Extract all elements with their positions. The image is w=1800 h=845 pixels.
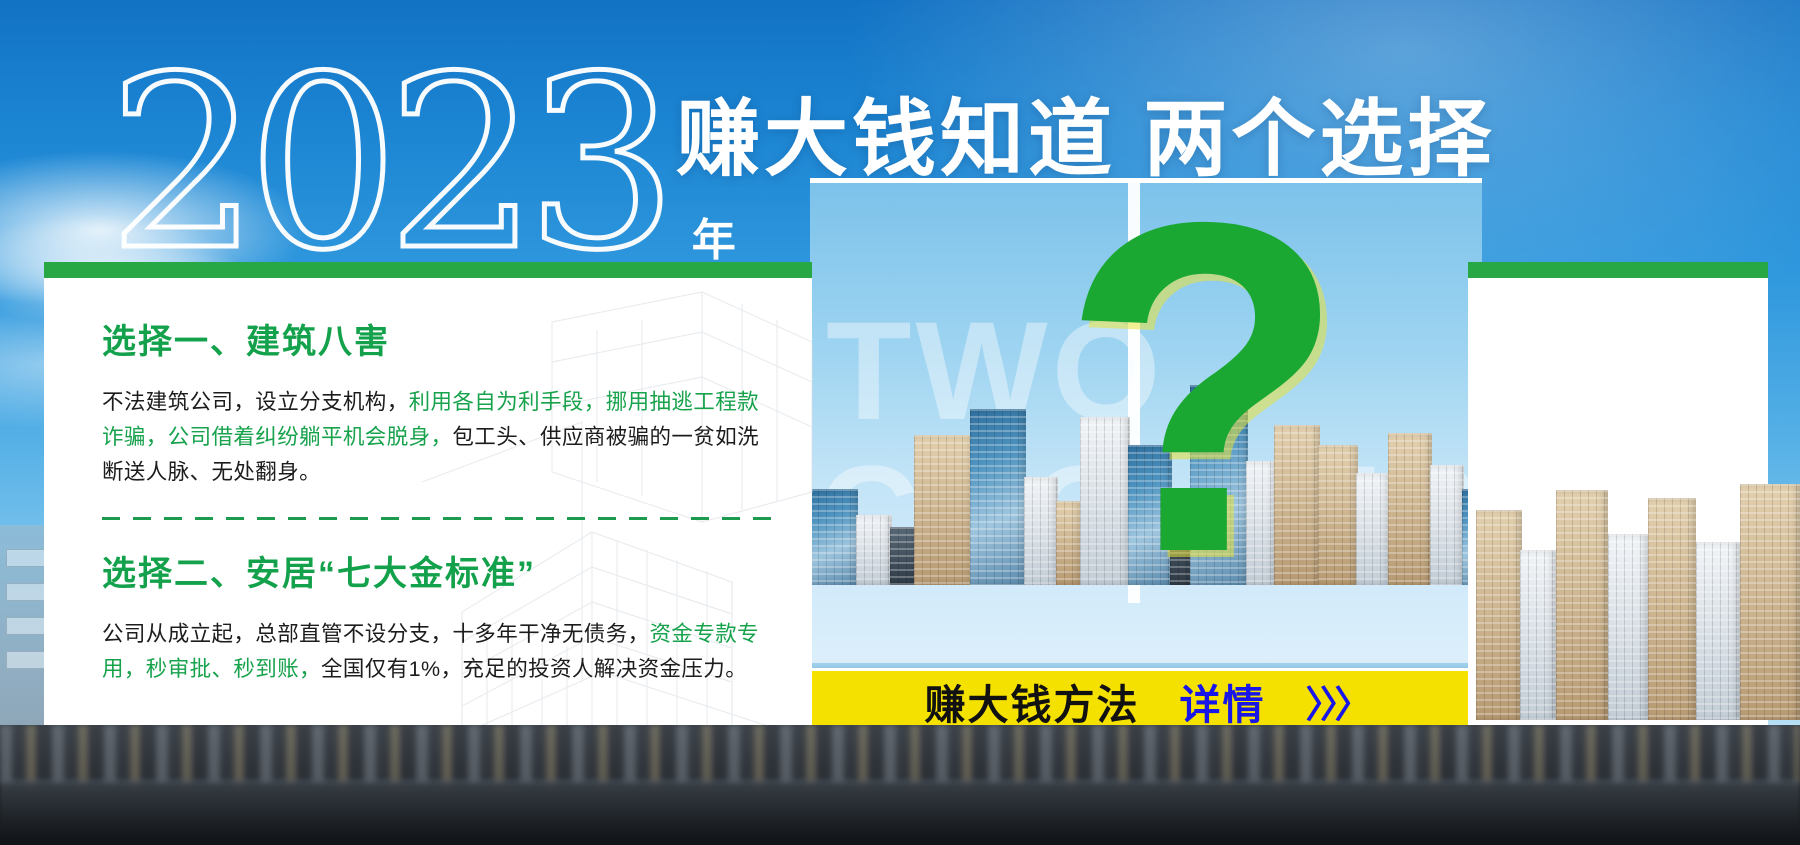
blurred-cityscape [0, 725, 1800, 783]
cta-detail-label: 详情 [1180, 671, 1266, 731]
content-card: 选择一、建筑八害 不法建筑公司，设立分支机构，利用各自为利手段，挪用抽逃工程款诈… [44, 262, 812, 789]
cta-label: 赚大钱方法 [925, 671, 1140, 731]
far-right-skyline [1470, 380, 1800, 720]
body-run-black: 全国仅有1%，充足的投资人解决资金压力。 [321, 657, 747, 681]
section-divider [102, 517, 772, 520]
headline: 赚大钱知道 两个选择 [676, 72, 1495, 193]
right-visual-panel: TWO CHOICES ? [810, 183, 1482, 663]
promo-banner: 2023 年 赚大钱知道 两个选择 TWO CHOICES [0, 0, 1800, 845]
chevron-right-icon: 〉〉〉 [1306, 674, 1368, 728]
bottom-photo-strip [0, 725, 1800, 845]
question-mark-icon: ? [1060, 195, 1347, 580]
right-green-accent [1468, 262, 1768, 278]
body-run-black: 不法建筑公司，设立分支机构， [102, 390, 409, 414]
water-reflection [0, 779, 1800, 845]
card-content: 选择一、建筑八害 不法建筑公司，设立分支机构，利用各自为利手段，挪用抽逃工程款诈… [44, 262, 812, 687]
body-run-black: 公司从成立起，总部直管不设分支，十多年干净无债务， [102, 622, 650, 646]
card-section-2: 选择二、安居“七大金标准” 公司从成立起，总部直管不设分支，十多年干净无债务，资… [102, 546, 772, 687]
section-body-1: 不法建筑公司，设立分支机构，利用各自为利手段，挪用抽逃工程款诈骗，公司借着纠纷躺… [102, 385, 772, 489]
section-body-2: 公司从成立起，总部直管不设分支，十多年干净无债务，资金专款专用，秒审批、秒到账，… [102, 617, 772, 687]
section-title-1: 选择一、建筑八害 [102, 314, 772, 363]
card-section-1: 选择一、建筑八害 不法建筑公司，设立分支机构，利用各自为利手段，挪用抽逃工程款诈… [102, 314, 772, 489]
section-title-2: 选择二、安居“七大金标准” [102, 546, 772, 595]
